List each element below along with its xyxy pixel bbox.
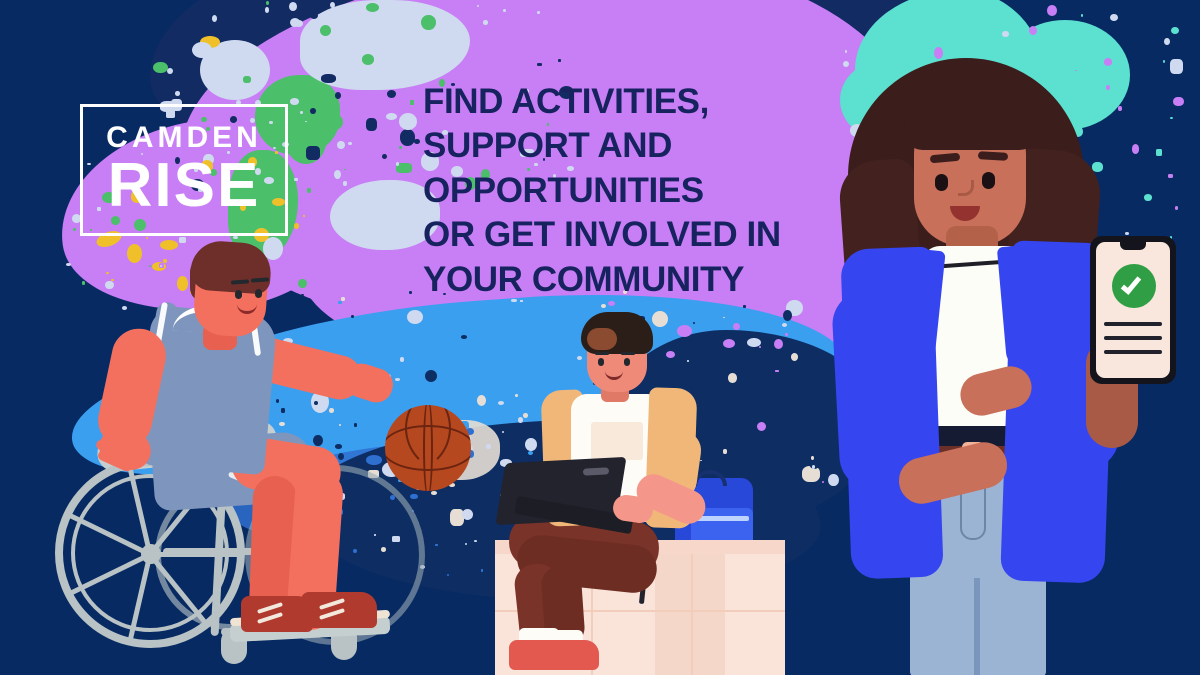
paint-speckle — [414, 139, 420, 145]
paint-speckle — [486, 444, 491, 450]
paint-speckle — [212, 15, 217, 22]
paint-speckle — [601, 304, 606, 308]
laptop-user-shoe — [539, 640, 599, 670]
yellow-fleck — [160, 240, 178, 250]
camden-rise-logo: CAMDEN RISE — [80, 104, 288, 236]
phone-screen — [1096, 242, 1170, 378]
paint-speckle — [1164, 38, 1170, 45]
paint-speckle — [1081, 14, 1084, 17]
paint-speckle — [435, 544, 438, 546]
laptop-user-illustration — [495, 310, 795, 675]
logo-line-rise: RISE — [108, 155, 261, 217]
paint-speckle — [396, 162, 400, 166]
paint-speckle — [1047, 5, 1057, 16]
paint-speckle — [558, 59, 561, 62]
paint-speckle — [306, 146, 320, 161]
paint-speckle — [806, 375, 809, 378]
athlete-eye — [235, 290, 242, 299]
paint-speckle — [326, 114, 342, 130]
laptop-user-eyebrow — [595, 352, 609, 355]
tshirt-graphic — [591, 422, 643, 460]
headline-line-2: SUPPORT AND — [423, 124, 863, 168]
paint-speckle — [361, 25, 368, 31]
logo-line-camden: CAMDEN — [106, 123, 262, 153]
paint-speckle — [467, 303, 474, 312]
wheelchair-athlete-illustration — [45, 250, 425, 675]
paint-speckle — [362, 54, 374, 64]
paint-speckle — [503, 9, 505, 12]
paint-speckle — [175, 91, 180, 96]
paint-speckle — [343, 181, 347, 185]
laptop-user-eye — [598, 358, 604, 366]
paint-speckle — [901, 21, 904, 24]
paint-speckle — [537, 11, 540, 14]
paint-speckle — [256, 56, 265, 65]
paint-speckle — [1002, 31, 1008, 37]
phone-text-line — [1104, 322, 1162, 326]
paint-speckle — [321, 200, 324, 204]
paint-speckle — [1029, 26, 1037, 35]
paint-speckle — [366, 118, 378, 132]
laptop-user-eyebrow — [621, 352, 635, 355]
woman-jeans-seam — [974, 578, 980, 675]
paint-speckle — [260, 78, 264, 81]
woman-sleeve-left — [831, 288, 915, 492]
laptop-user-hair-highlight — [587, 328, 617, 350]
paint-speckle — [1171, 27, 1179, 34]
paint-speckle — [465, 380, 477, 388]
backpack-reflector — [695, 516, 749, 521]
wheel-hub — [141, 544, 161, 564]
woman-with-phone-illustration — [810, 50, 1200, 675]
paint-speckle — [366, 3, 379, 13]
paint-speckle — [266, 1, 269, 5]
headline-text: FIND ACTIVITIES, SUPPORT AND OPPORTUNITI… — [423, 80, 863, 302]
paint-speckle — [382, 154, 387, 159]
paint-speckle — [243, 76, 252, 83]
headline-line-3: OPPORTUNITIES — [423, 169, 863, 213]
tile-line — [691, 554, 693, 675]
poster-canvas: CAMDEN RISE FIND ACTIVITIES, SUPPORT AND… — [0, 0, 1200, 675]
paint-speckle — [436, 333, 439, 336]
paint-speckle — [289, 2, 297, 11]
paint-speckle — [481, 569, 483, 571]
headline-line-1: FIND ACTIVITIES, — [423, 80, 863, 124]
woman-eyebrow — [978, 151, 1008, 161]
paint-speckle — [421, 15, 436, 30]
paint-speckle — [294, 178, 298, 182]
paint-speckle — [400, 129, 416, 146]
wheel-spoke — [149, 552, 241, 557]
woman-hair-fringe — [904, 78, 1038, 150]
laptop-hinge-notch — [583, 467, 609, 475]
paint-speckle — [410, 100, 414, 105]
basketball-icon — [385, 405, 471, 491]
paint-speckle — [321, 74, 336, 83]
athlete-eye — [255, 289, 262, 298]
headline-line-4: OR GET INVOLVED IN — [423, 213, 863, 257]
paint-speckle — [192, 42, 212, 58]
paint-speckle — [1110, 14, 1118, 21]
paint-speckle — [386, 113, 397, 120]
paint-speckle — [483, 20, 488, 25]
paint-speckle — [290, 98, 300, 105]
phone-text-line — [1104, 336, 1162, 340]
paint-speckle — [295, 20, 303, 27]
woman-eye — [935, 174, 948, 191]
paint-speckle — [431, 491, 437, 495]
paint-speckle — [310, 108, 315, 114]
paint-speckle — [179, 237, 187, 243]
paint-speckle — [399, 113, 417, 130]
woman-eye — [982, 172, 995, 189]
phone-notch — [1120, 242, 1146, 250]
headline-line-5: YOUR COMMUNITY — [423, 258, 863, 302]
paint-speckle — [305, 176, 311, 182]
paint-speckle — [153, 62, 168, 73]
paint-speckle — [73, 228, 76, 231]
laptop-user-eye — [624, 358, 630, 366]
paint-speckle — [537, 63, 542, 66]
phone-text-line — [1104, 350, 1162, 354]
seating-block-shade — [655, 554, 725, 675]
